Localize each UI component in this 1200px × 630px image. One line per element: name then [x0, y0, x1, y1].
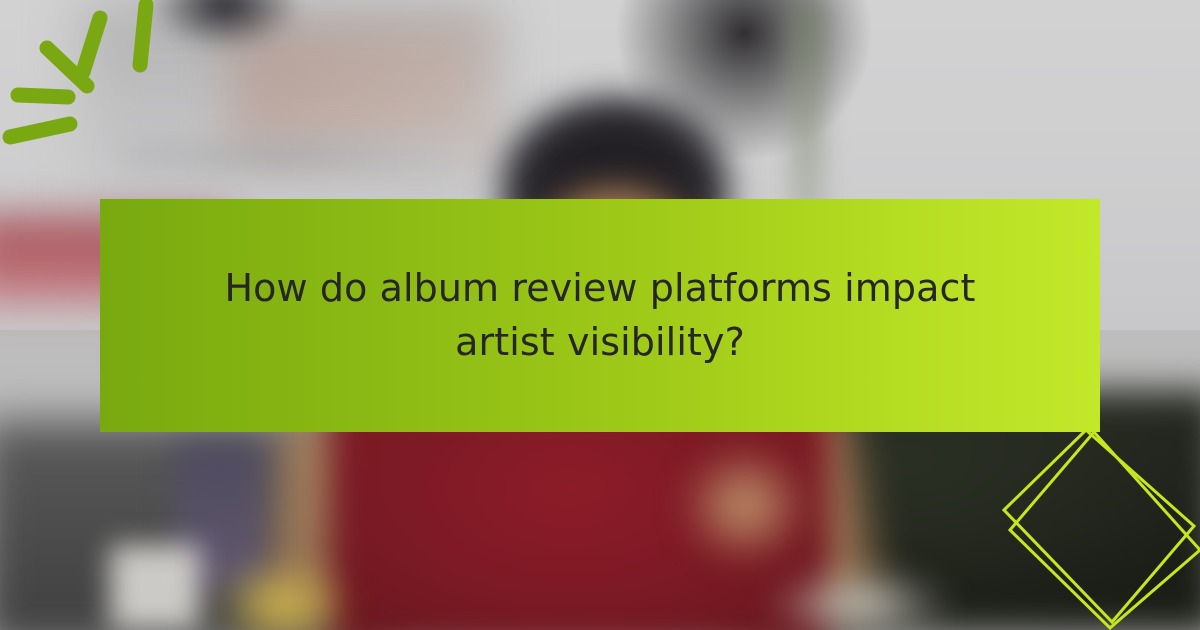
sunburst-icon: [0, 0, 250, 200]
background-white-object: [110, 545, 200, 630]
share-card-canvas: How do album review platforms impact art…: [0, 0, 1200, 630]
page-title: How do album review platforms impact art…: [200, 262, 1000, 370]
rotated-squares-icon: [960, 410, 1200, 630]
background-person-hand: [680, 445, 810, 565]
background-grey-object: [770, 570, 950, 630]
background-yellow-object: [215, 560, 350, 630]
headline-banner: How do album review platforms impact art…: [100, 199, 1100, 432]
